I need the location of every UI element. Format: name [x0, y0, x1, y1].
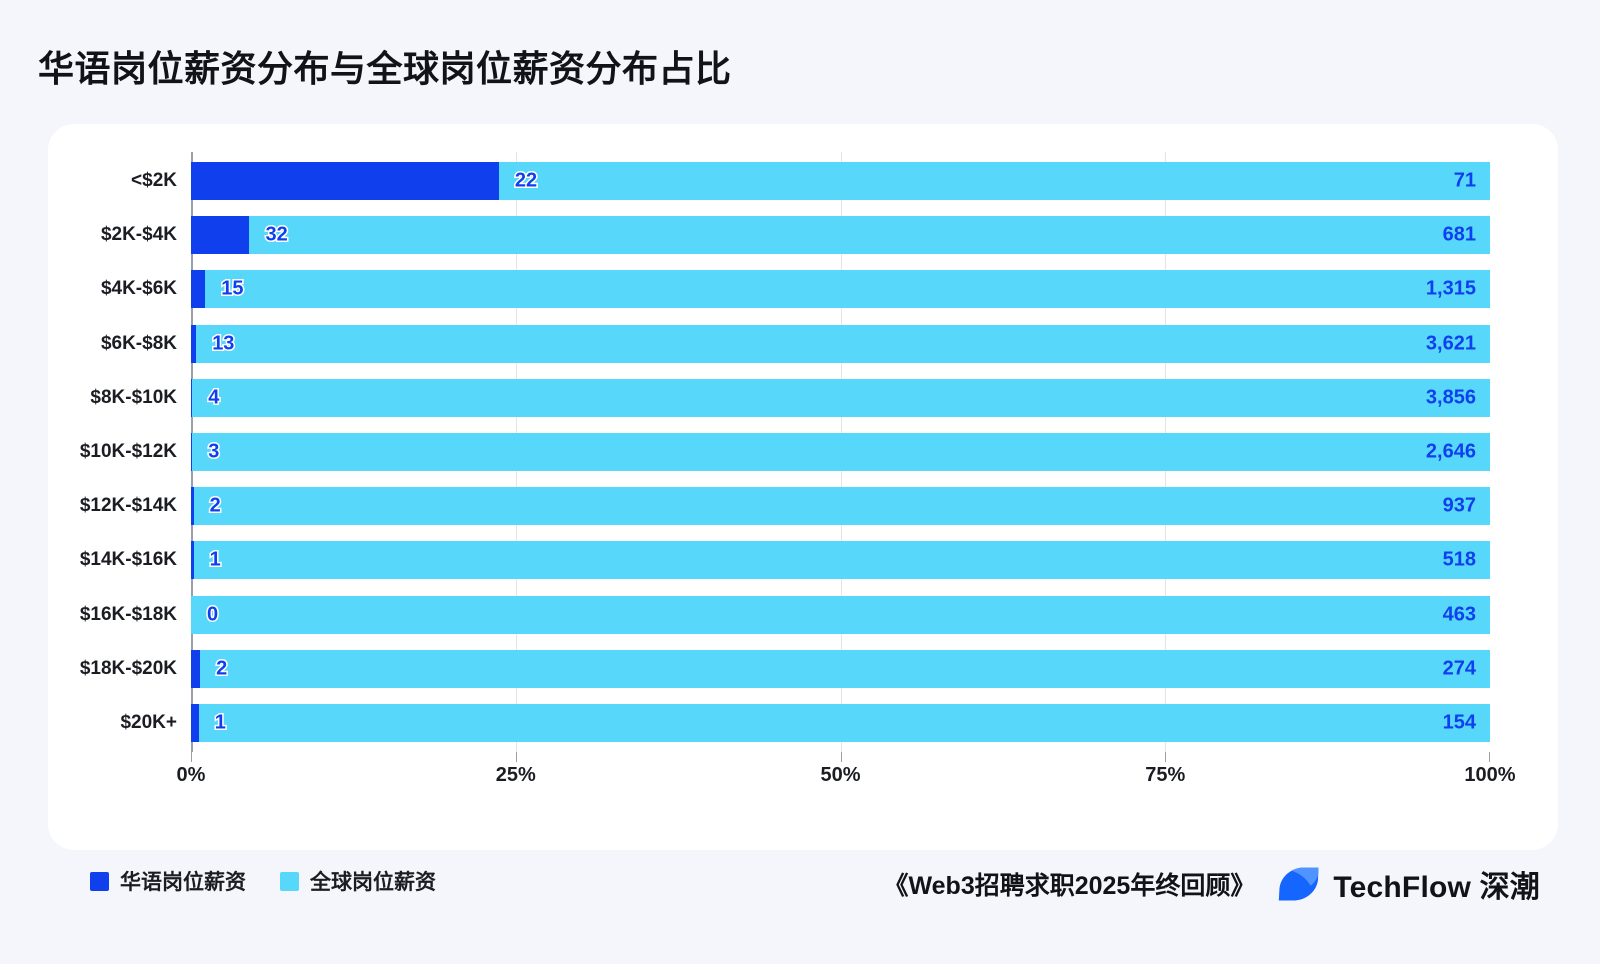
bar-value-global: 274	[1443, 657, 1476, 680]
bar-row: $12K-$14K2937	[191, 487, 1490, 525]
category-label: $4K-$6K	[101, 278, 177, 300]
bar-value-global: 2,646	[1426, 441, 1476, 464]
legend-item[interactable]: 全球岗位薪资	[280, 866, 436, 896]
bar-segment-global: 463	[191, 596, 1490, 634]
chart-footer: 华语岗位薪资全球岗位薪资 《Web3招聘求职2025年终回顾》 TechFlow…	[48, 858, 1558, 918]
bar-row: $14K-$16K1518	[191, 541, 1490, 579]
bar-rows: <$2K2271$2K-$4K32681$4K-$6K151,315$6K-$8…	[191, 152, 1490, 752]
x-tick-label: 0%	[177, 764, 206, 787]
bar-value-global: 1,315	[1426, 278, 1476, 301]
legend-item[interactable]: 华语岗位薪资	[90, 866, 246, 896]
bar-value-cn: 22	[515, 170, 537, 193]
bar-value-cn: 0	[207, 603, 218, 626]
bar-row: $6K-$8K133,621	[191, 325, 1490, 363]
category-label: $6K-$8K	[101, 333, 177, 355]
category-label: $16K-$18K	[80, 604, 177, 626]
xtick-25	[516, 752, 517, 762]
x-tick-label: 75%	[1145, 764, 1185, 787]
bar-segment-cn: 2	[191, 650, 200, 688]
bar-value-global: 518	[1443, 549, 1476, 572]
bar-row: $10K-$12K32,646	[191, 433, 1490, 471]
legend-swatch-icon	[90, 872, 109, 891]
bar-row: $4K-$6K151,315	[191, 270, 1490, 308]
x-tick-label: 100%	[1464, 764, 1515, 787]
bar-value-global: 3,621	[1426, 332, 1476, 355]
category-label: $2K-$4K	[101, 224, 177, 246]
bar-value-cn: 2	[216, 657, 227, 680]
category-label: $12K-$14K	[80, 495, 177, 517]
xtick-75	[1165, 752, 1166, 762]
xtick-50	[841, 752, 842, 762]
category-label: $10K-$12K	[80, 441, 177, 463]
bar-segment-global: 154	[199, 704, 1490, 742]
techflow-leaf-logo-icon	[1277, 866, 1321, 902]
category-label: $20K+	[120, 712, 177, 734]
xtick-0	[191, 752, 192, 762]
bar-value-global: 3,856	[1426, 386, 1476, 409]
bar-value-cn: 1	[215, 712, 226, 735]
bar-row: $20K+1154	[191, 704, 1490, 742]
chart-page: 华语岗位薪资分布与全球岗位薪资分布占比 <$2K2271$2K-$4K32681…	[0, 0, 1600, 964]
bar-segment-cn: 1	[191, 704, 199, 742]
bar-row: $16K-$18K0463	[191, 596, 1490, 634]
bar-segment-global: 3,621	[196, 325, 1490, 363]
bar-value-global: 681	[1443, 224, 1476, 247]
bar-segment-global: 71	[499, 162, 1490, 200]
x-axis-labels: 0%25%50%75%100%	[191, 764, 1490, 794]
bar-value-cn: 13	[212, 332, 234, 355]
bar-value-global: 71	[1454, 170, 1476, 193]
bar-segment-cn: 32	[191, 216, 249, 254]
chart-card: <$2K2271$2K-$4K32681$4K-$6K151,315$6K-$8…	[48, 124, 1558, 850]
category-label: $14K-$16K	[80, 549, 177, 571]
brand-bar: 《Web3招聘求职2025年终回顾》 TechFlow 深潮	[884, 862, 1541, 906]
brand-name: TechFlow 深潮	[1333, 862, 1540, 906]
report-title: 《Web3招聘求职2025年终回顾》	[884, 866, 1256, 902]
brand-logo-group: TechFlow 深潮	[1277, 862, 1540, 906]
bar-segment-global: 518	[194, 541, 1490, 579]
bar-segment-cn: 15	[191, 270, 205, 308]
bar-segment-global: 274	[200, 650, 1490, 688]
bar-value-cn: 1	[210, 549, 221, 572]
bar-row: $18K-$20K2274	[191, 650, 1490, 688]
bar-row: $2K-$4K32681	[191, 216, 1490, 254]
bar-segment-global: 937	[194, 487, 1490, 525]
bar-segment-cn: 22	[191, 162, 499, 200]
bar-value-cn: 32	[265, 224, 287, 247]
bar-value-cn: 4	[208, 386, 219, 409]
bar-segment-global: 681	[249, 216, 1490, 254]
legend-swatch-icon	[280, 872, 299, 891]
legend-label: 华语岗位薪资	[120, 866, 246, 896]
bar-segment-global: 1,315	[205, 270, 1490, 308]
plot-area: <$2K2271$2K-$4K32681$4K-$6K151,315$6K-$8…	[48, 124, 1558, 850]
bar-row: $8K-$10K43,856	[191, 379, 1490, 417]
x-tick-label: 50%	[820, 764, 860, 787]
bar-value-global: 937	[1443, 495, 1476, 518]
x-tick-label: 25%	[496, 764, 536, 787]
bar-row: <$2K2271	[191, 162, 1490, 200]
legend-label: 全球岗位薪资	[310, 866, 436, 896]
xtick-100	[1489, 752, 1490, 762]
bar-value-cn: 2	[210, 495, 221, 518]
bar-value-cn: 3	[208, 441, 219, 464]
bar-value-global: 463	[1443, 603, 1476, 626]
category-label: $8K-$10K	[90, 387, 177, 409]
bar-segment-global: 2,646	[192, 433, 1490, 471]
category-label: <$2K	[131, 170, 177, 192]
category-label: $18K-$20K	[80, 658, 177, 680]
bar-segment-global: 3,856	[192, 379, 1490, 417]
page-title: 华语岗位薪资分布与全球岗位薪资分布占比	[38, 40, 732, 92]
bar-value-global: 154	[1443, 712, 1476, 735]
bar-value-cn: 15	[221, 278, 243, 301]
legend: 华语岗位薪资全球岗位薪资	[90, 866, 436, 896]
